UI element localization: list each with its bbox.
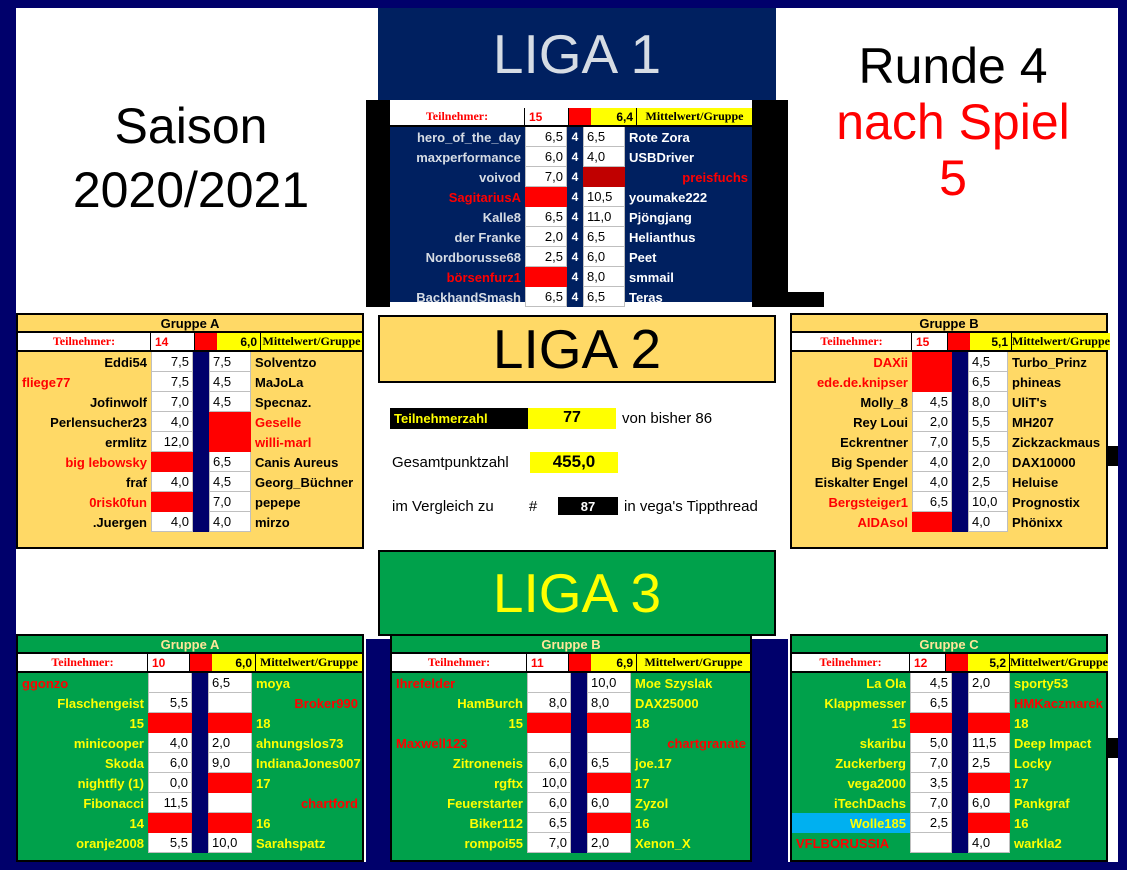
right-player-name: Sarahspatz — [252, 833, 362, 853]
vergleich-suffix: in vega's Tippthread — [618, 498, 758, 515]
right-score: 10,5 — [583, 187, 625, 207]
right-score: 6,5 — [968, 372, 1008, 392]
right-player-name: Pankgraf — [1010, 793, 1106, 813]
liga3-banner: LIGA 3 — [378, 550, 776, 636]
right-score: 9,0 — [208, 753, 252, 773]
column-divider — [952, 773, 968, 793]
teilnehmer-header: Teilnehmer: — [792, 654, 910, 671]
mittelwert-header: Mittelwert/Gruppe — [1012, 333, 1110, 350]
left-player-name: BackhandSmash — [390, 287, 525, 307]
right-score: 4,5 — [209, 472, 251, 492]
right-player-name: DAX10000 — [1008, 452, 1106, 472]
left-player-name: oranje2008 — [18, 833, 148, 853]
teilnehmer-count: 15 — [525, 108, 569, 125]
group-title: Gruppe B — [792, 315, 1106, 333]
right-player-name: sporty53 — [1010, 673, 1106, 693]
column-divider — [571, 773, 587, 793]
table-row: fliege777,54,5MaJoLa — [18, 372, 362, 392]
right-score: 7,5 — [209, 352, 251, 372]
table-row: big lebowsky6,5Canis Aureus — [18, 452, 362, 472]
right-score: 10,0 — [968, 492, 1008, 512]
teilnehmer-count: 10 — [148, 654, 190, 671]
table-row: 1518 — [792, 713, 1106, 733]
table-row: Feuerstarter6,06,0Zyzol — [392, 793, 750, 813]
liga1-banner: LIGA 1 — [378, 8, 776, 100]
right-score: 4,5 — [968, 352, 1008, 372]
right-score: 8,0 — [583, 267, 625, 287]
right-score: 5,5 — [968, 412, 1008, 432]
right-player-name: Teras — [625, 287, 752, 307]
table-row: skaribu5,011,5Deep Impact — [792, 733, 1106, 753]
table-header-row: Teilnehmer:156,4Mittelwert/Gruppe — [390, 108, 752, 127]
left-player-name: Rey Loui — [792, 412, 912, 432]
saison-line-2: 2020/2021 — [73, 158, 309, 222]
runde-line-3: 5 — [939, 150, 967, 206]
column-divider — [193, 412, 209, 432]
table-body: ggonzo6,5moyaFlaschengeist5,5Broker99015… — [18, 673, 362, 853]
left-score — [527, 733, 571, 753]
left-player-name: voivod — [390, 167, 525, 187]
left-player-name: La Ola — [792, 673, 910, 693]
left-score: 10,0 — [527, 773, 571, 793]
table-row: Zitroneneis6,06,5joe.17 — [392, 753, 750, 773]
column-divider — [192, 773, 208, 793]
header-red-marker — [946, 654, 968, 671]
header-red-marker — [195, 333, 217, 350]
right-player-name: Solventzo — [251, 352, 362, 372]
liga3-gruppe-c-table: Gruppe CTeilnehmer:125,2Mittelwert/Grupp… — [790, 634, 1108, 862]
left-score: 7,0 — [525, 167, 567, 187]
left-player-name: AIDAsol — [792, 512, 912, 532]
column-divider — [193, 472, 209, 492]
right-player-name: 18 — [252, 713, 362, 733]
left-player-name: iTechDachs — [792, 793, 910, 813]
table-row: vega20003,517 — [792, 773, 1106, 793]
table-body: Eddi547,57,5Solventzofliege777,54,5MaJoL… — [18, 352, 362, 532]
saison-title: Saison 2020/2021 — [16, 8, 366, 307]
left-score: 4,0 — [912, 452, 952, 472]
right-player-name: willi-marl — [251, 432, 362, 452]
right-score: 10,0 — [208, 833, 252, 853]
teilnehmer-header: Teilnehmer: — [18, 333, 151, 350]
table-row: hero_of_the_day6,546,5Rote Zora — [390, 127, 752, 147]
left-player-name: 0risk0fun — [18, 492, 151, 512]
group-title: Gruppe A — [18, 636, 362, 654]
right-player-name: youmake222 — [625, 187, 752, 207]
mittelwert-value: 6,9 — [591, 654, 637, 671]
table-row: BackhandSmash6,546,5Teras — [390, 287, 752, 307]
table-row: 1416 — [18, 813, 362, 833]
left-player-name: Molly_8 — [792, 392, 912, 412]
table-row: maxperformance6,044,0USBDriver — [390, 147, 752, 167]
column-divider — [192, 793, 208, 813]
table-header-row: Teilnehmer:125,2Mittelwert/Gruppe — [792, 654, 1106, 673]
column-divider — [571, 793, 587, 813]
left-score: 6,5 — [525, 127, 567, 147]
right-player-name: IndianaJones007 — [252, 753, 362, 773]
left-player-name: Zitroneneis — [392, 753, 527, 773]
liga3-gruppe-a-table: Gruppe ATeilnehmer:106,0Mittelwert/Grupp… — [16, 634, 364, 862]
right-score: 10,0 — [587, 673, 631, 693]
table-row: fraf4,04,5Georg_Büchner — [18, 472, 362, 492]
table-row: börsenfurz148,0smmail — [390, 267, 752, 287]
right-player-name: MaJoLa — [251, 372, 362, 392]
column-divider — [193, 352, 209, 372]
saison-line-1: Saison — [115, 94, 268, 158]
table-row: nightfly (1)0,017 — [18, 773, 362, 793]
table-row: Fibonacci11,5chartford — [18, 793, 362, 813]
right-player-name: Peet — [625, 247, 752, 267]
left-score: 4,0 — [151, 412, 193, 432]
left-player-name: Eiskalter Engel — [792, 472, 912, 492]
left-score: 6,5 — [525, 207, 567, 227]
column-divider — [571, 733, 587, 753]
teilnehmer-count: 11 — [527, 654, 569, 671]
right-player-name: Helianthus — [625, 227, 752, 247]
left-score: 4,5 — [910, 673, 952, 693]
table-row: ggonzo6,5moya — [18, 673, 362, 693]
table-row: La Ola4,52,0sporty53 — [792, 673, 1106, 693]
right-score: 6,5 — [209, 452, 251, 472]
column-divider — [192, 693, 208, 713]
left-player-name: big lebowsky — [18, 452, 151, 472]
column-divider — [952, 472, 968, 492]
right-score: 11,5 — [968, 733, 1010, 753]
column-divider — [571, 673, 587, 693]
table-row: Zuckerberg7,02,5Locky — [792, 753, 1106, 773]
left-player-name: Feuerstarter — [392, 793, 527, 813]
teilnehmerzahl-value: 77 — [528, 408, 616, 429]
column-divider — [192, 713, 208, 733]
right-player-name: Georg_Büchner — [251, 472, 362, 492]
left-score: 8,0 — [527, 693, 571, 713]
column-divider — [952, 512, 968, 532]
right-score: 2,5 — [968, 753, 1010, 773]
table-row: Skoda6,09,0IndianaJones007 — [18, 753, 362, 773]
table-row: ermlitz12,0willi-marl — [18, 432, 362, 452]
left-score: 4,5 — [912, 392, 952, 412]
table-row: Bergsteiger16,510,0Prognostix — [792, 492, 1106, 512]
liga2-gruppe-b-table: Gruppe BTeilnehmer:155,1Mittelwert/Grupp… — [790, 313, 1108, 549]
teilnehmer-header: Teilnehmer: — [390, 108, 525, 125]
right-player-name: preisfuchs — [625, 167, 752, 187]
column-divider — [952, 753, 968, 773]
left-score — [525, 267, 567, 287]
right-score: 8,0 — [587, 693, 631, 713]
left-player-name: Eckrentner — [792, 432, 912, 452]
mittelwert-value: 5,1 — [970, 333, 1012, 350]
table-row: Eddi547,57,5Solventzo — [18, 352, 362, 372]
left-player-name: skaribu — [792, 733, 910, 753]
left-score — [148, 673, 192, 693]
round-number: 4 — [567, 267, 583, 287]
right-player-name: 16 — [631, 813, 750, 833]
right-player-name: 17 — [252, 773, 362, 793]
right-score: 2,0 — [208, 733, 252, 753]
left-score: 7,5 — [151, 372, 193, 392]
table-row: Rey Loui2,05,5MH207 — [792, 412, 1106, 432]
column-divider — [952, 352, 968, 372]
right-player-name: MH207 — [1008, 412, 1106, 432]
right-score: 8,0 — [968, 392, 1008, 412]
right-player-name: 18 — [631, 713, 750, 733]
table-row: Wolle1852,516 — [792, 813, 1106, 833]
left-player-name: fraf — [18, 472, 151, 492]
left-score: 6,5 — [527, 813, 571, 833]
column-divider — [952, 813, 968, 833]
mittelwert-header: Mittelwert/Gruppe — [261, 333, 362, 350]
left-player-name: SagitariusA — [390, 187, 525, 207]
right-player-name: moya — [252, 673, 362, 693]
table-header-row: Teilnehmer:106,0Mittelwert/Gruppe — [18, 654, 362, 673]
left-score: 7,0 — [527, 833, 571, 853]
right-player-name: 17 — [631, 773, 750, 793]
right-player-name: 16 — [1010, 813, 1106, 833]
column-divider — [193, 492, 209, 512]
right-score: 6,5 — [587, 753, 631, 773]
table-row: .Juergen4,04,0mirzo — [18, 512, 362, 532]
right-score: 6,0 — [968, 793, 1010, 813]
left-score: 6,5 — [910, 693, 952, 713]
round-number: 4 — [567, 167, 583, 187]
left-player-name: Klappmesser — [792, 693, 910, 713]
header-red-marker — [569, 108, 591, 125]
left-score: 6,0 — [148, 753, 192, 773]
mittelwert-header: Mittelwert/Gruppe — [1010, 654, 1108, 671]
left-player-name: Nordborusse68 — [390, 247, 525, 267]
left-score: 7,0 — [151, 392, 193, 412]
left-player-name: Bergsteiger1 — [792, 492, 912, 512]
right-score: 6,0 — [583, 247, 625, 267]
left-player-name: Perlensucher23 — [18, 412, 151, 432]
left-score — [912, 372, 952, 392]
hash-symbol: # — [508, 496, 558, 517]
left-score: 11,5 — [148, 793, 192, 813]
right-score — [587, 713, 631, 733]
left-score: 7,0 — [910, 793, 952, 813]
left-player-name: Jofinwolf — [18, 392, 151, 412]
left-player-name: HamBurch — [392, 693, 527, 713]
right-score: 7,0 — [209, 492, 251, 512]
right-player-name: Deep Impact — [1010, 733, 1106, 753]
left-score: 4,0 — [148, 733, 192, 753]
left-player-name: DAXii — [792, 352, 912, 372]
right-player-name: Zickzackmaus — [1008, 432, 1106, 452]
left-player-name: rgftx — [392, 773, 527, 793]
column-divider — [193, 372, 209, 392]
left-player-name: Wolle185 — [792, 813, 910, 833]
left-player-name: nightfly (1) — [18, 773, 148, 793]
right-score — [968, 773, 1010, 793]
left-player-name: vega2000 — [792, 773, 910, 793]
right-score: 2,5 — [968, 472, 1008, 492]
column-divider — [192, 673, 208, 693]
table-row: Jofinwolf7,04,5Specnaz. — [18, 392, 362, 412]
right-score — [209, 432, 251, 452]
right-score: 4,0 — [209, 512, 251, 532]
teilnehmer-header: Teilnehmer: — [792, 333, 912, 350]
right-score: 6,5 — [208, 673, 252, 693]
column-divider — [192, 813, 208, 833]
right-player-name: joe.17 — [631, 753, 750, 773]
left-player-name: börsenfurz1 — [390, 267, 525, 287]
right-player-name: warkla2 — [1010, 833, 1106, 853]
right-player-name: chartgranate — [631, 733, 750, 753]
table-row: 1518 — [18, 713, 362, 733]
slide-frame: Saison 2020/2021 Runde 4 nach Spiel 5 LI… — [0, 0, 1127, 870]
right-score: 2,0 — [968, 452, 1008, 472]
right-player-name: 18 — [1010, 713, 1106, 733]
left-score: 4,0 — [912, 472, 952, 492]
left-player-name: Eddi54 — [18, 352, 151, 372]
black-strip-left — [366, 100, 390, 307]
left-player-name: Big Spender — [792, 452, 912, 472]
left-player-name: Ihrefelder — [392, 673, 527, 693]
right-player-name: DAX25000 — [631, 693, 750, 713]
column-divider — [952, 713, 968, 733]
left-player-name: VFLBORUSSIA — [792, 833, 910, 853]
table-row: voivod7,04preisfuchs — [390, 167, 752, 187]
left-score — [910, 833, 952, 853]
runde-line-1: Runde 4 — [858, 38, 1047, 94]
left-score: 7,5 — [151, 352, 193, 372]
left-score: 2,0 — [912, 412, 952, 432]
round-number: 4 — [567, 147, 583, 167]
column-divider — [952, 833, 968, 853]
teilnehmer-count: 14 — [151, 333, 195, 350]
left-player-name: minicooper — [18, 733, 148, 753]
right-score: 2,0 — [968, 673, 1010, 693]
table-header-row: Teilnehmer:146,0Mittelwert/Gruppe — [18, 333, 362, 352]
left-player-name: 15 — [392, 713, 527, 733]
left-score: 6,5 — [525, 287, 567, 307]
right-player-name: USBDriver — [625, 147, 752, 167]
table-body: La Ola4,52,0sporty53Klappmesser6,5HMKacz… — [792, 673, 1106, 853]
column-divider — [952, 392, 968, 412]
right-player-name: Turbo_Prinz — [1008, 352, 1106, 372]
table-row: VFLBORUSSIA4,0warkla2 — [792, 833, 1106, 853]
table-row: 0risk0fun7,0pepepe — [18, 492, 362, 512]
left-score — [151, 452, 193, 472]
right-score — [208, 773, 252, 793]
right-score: 4,0 — [968, 512, 1008, 532]
left-score — [148, 813, 192, 833]
runde-title: Runde 4 nach Spiel 5 — [788, 8, 1118, 307]
left-player-name: Biker112 — [392, 813, 527, 833]
group-title: Gruppe B — [392, 636, 750, 654]
right-score: 2,0 — [587, 833, 631, 853]
right-player-name: Zyzol — [631, 793, 750, 813]
right-player-name: 17 — [1010, 773, 1106, 793]
round-number: 4 — [567, 247, 583, 267]
table-row: Maxwell123chartgranate — [392, 733, 750, 753]
liga2-banner: LIGA 2 — [378, 315, 776, 383]
left-player-name: der Franke — [390, 227, 525, 247]
stat-row-teilnehmerzahl: Teilnehmerzahl 77 von bisher 86 — [390, 405, 770, 431]
left-player-name: Kalle8 — [390, 207, 525, 227]
teilnehmerzahl-suffix: von bisher 86 — [616, 410, 712, 427]
header-red-marker — [190, 654, 212, 671]
teilnehmer-count: 12 — [910, 654, 946, 671]
right-player-name: HMKaczmarek — [1010, 693, 1107, 713]
teilnehmerzahl-label: Teilnehmerzahl — [390, 408, 528, 429]
right-score — [968, 813, 1010, 833]
stat-row-vergleich: im Vergleich zu # 87 in vega's Tippthrea… — [390, 493, 770, 519]
table-row: AIDAsol4,0Phönixx — [792, 512, 1106, 532]
left-score: 2,0 — [525, 227, 567, 247]
right-player-name: Locky — [1010, 753, 1106, 773]
table-row: Kalle86,5411,0Pjöngjang — [390, 207, 752, 227]
stat-row-gesamtpunktzahl: Gesamtpunktzahl 455,0 — [390, 449, 770, 475]
right-player-name: UliT's — [1008, 392, 1106, 412]
table-row: minicooper4,02,0ahnungslos73 — [18, 733, 362, 753]
left-score: 4,0 — [151, 472, 193, 492]
right-score: 4,5 — [209, 392, 251, 412]
right-player-name: Broker990 — [252, 693, 362, 713]
column-divider — [571, 813, 587, 833]
right-player-name: chartford — [252, 793, 362, 813]
left-score — [912, 512, 952, 532]
table-row: Biker1126,516 — [392, 813, 750, 833]
left-player-name: fliege77 — [18, 372, 151, 392]
column-divider — [952, 492, 968, 512]
runde-line-2: nach Spiel — [836, 94, 1070, 150]
right-score: 6,5 — [583, 227, 625, 247]
mittelwert-value: 6,0 — [212, 654, 256, 671]
liga2-stats: Teilnehmerzahl 77 von bisher 86 Gesamtpu… — [390, 405, 770, 519]
right-score: 6,5 — [583, 287, 625, 307]
left-score: 6,0 — [527, 793, 571, 813]
column-divider — [193, 392, 209, 412]
right-player-name: phineas — [1008, 372, 1106, 392]
right-player-name: pepepe — [251, 492, 362, 512]
column-divider — [952, 452, 968, 472]
column-divider — [192, 833, 208, 853]
teilnehmer-header: Teilnehmer: — [392, 654, 527, 671]
right-score — [583, 167, 625, 187]
column-divider — [952, 412, 968, 432]
right-player-name: Phönixx — [1008, 512, 1106, 532]
left-player-name: ggonzo — [18, 673, 148, 693]
right-score: 6,0 — [587, 793, 631, 813]
right-player-name: Rote Zora — [625, 127, 752, 147]
left-score: 2,5 — [525, 247, 567, 267]
left-player-name: Fibonacci — [18, 793, 148, 813]
table-row: Ihrefelder10,0Moe Szyslak — [392, 673, 750, 693]
table-header-row: Teilnehmer:155,1Mittelwert/Gruppe — [792, 333, 1106, 352]
right-score: 4,5 — [209, 372, 251, 392]
table-row: Eckrentner7,05,5Zickzackmaus — [792, 432, 1106, 452]
left-player-name: Skoda — [18, 753, 148, 773]
table-row: Big Spender4,02,0DAX10000 — [792, 452, 1106, 472]
round-number: 4 — [567, 227, 583, 247]
round-number: 4 — [567, 127, 583, 147]
left-player-name: rompoi55 — [392, 833, 527, 853]
right-score — [587, 733, 631, 753]
left-player-name: ermlitz — [18, 432, 151, 452]
table-body: DAXii4,5Turbo_Prinzede.de.knipser6,5phin… — [792, 352, 1106, 532]
right-score: 5,5 — [968, 432, 1008, 452]
column-divider — [952, 673, 968, 693]
column-divider — [193, 452, 209, 472]
table-row: HamBurch8,08,0DAX25000 — [392, 693, 750, 713]
right-player-name: Moe Szyslak — [631, 673, 750, 693]
table-row: Klappmesser6,5HMKaczmarek — [792, 693, 1106, 713]
left-player-name: hero_of_the_day — [390, 127, 525, 147]
table-row: iTechDachs7,06,0Pankgraf — [792, 793, 1106, 813]
left-score — [912, 352, 952, 372]
right-player-name: Geselle — [251, 412, 362, 432]
